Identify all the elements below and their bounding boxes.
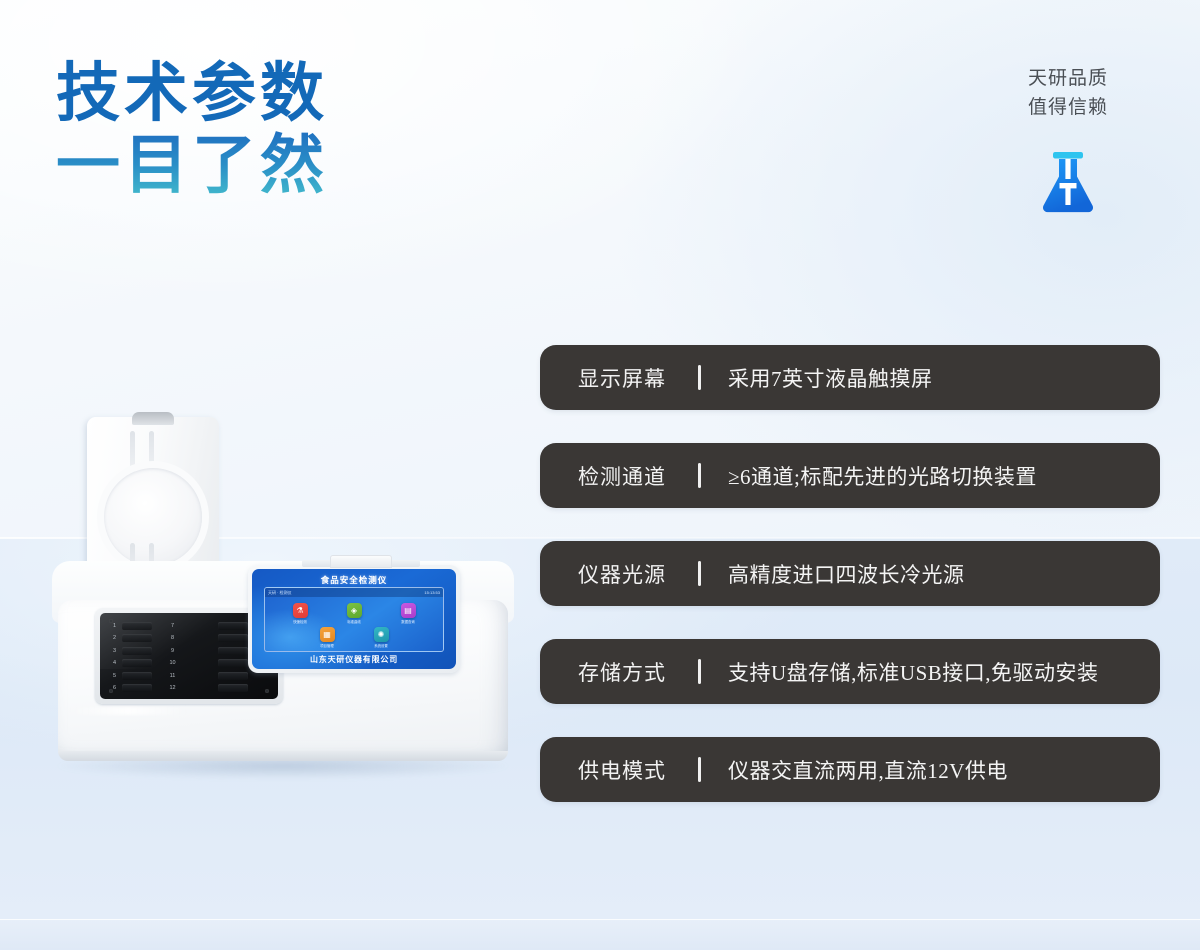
- app-icon[interactable]: ◈: [347, 603, 362, 618]
- spec-row: 显示屏幕采用7英寸液晶触摸屏: [540, 345, 1160, 410]
- screen-status-right: 15:13:53: [424, 590, 440, 595]
- spec-value-1: ≥6通道;标配先进的光路切换装置: [701, 461, 1037, 491]
- spec-label-4: 供电模式: [540, 755, 698, 785]
- device-illustration: 123456 789101112 食品安全检测仪 天研 · 检测仪 15:13:…: [40, 415, 520, 815]
- tray-slot-number: 12: [166, 684, 179, 692]
- tray-screw: [265, 689, 269, 693]
- screen-app-grid[interactable]: ⚗快速检测◈标准曲线▤数据查询▦项目管理✺系统设置: [265, 600, 443, 649]
- flask-icon-wrap: [978, 150, 1158, 214]
- app-label: 系统设置: [374, 643, 388, 648]
- tray-slot: [218, 659, 248, 667]
- screen-app-快速检测[interactable]: ⚗快速检测: [278, 603, 322, 624]
- panel-arm-right: [390, 560, 420, 567]
- screen-app-系统设置[interactable]: ✺系统设置: [359, 627, 403, 648]
- floor-line: [0, 919, 1200, 920]
- spec-value-4: 仪器交直流两用,直流12V供电: [701, 755, 1008, 785]
- app-label: 数据查询: [401, 619, 415, 624]
- panel-arm-left: [302, 560, 332, 567]
- spec-row: 检测通道≥6通道;标配先进的光路切换装置: [540, 443, 1160, 508]
- screen-app-标准曲线[interactable]: ◈标准曲线: [332, 603, 376, 624]
- screen-title: 食品安全检测仪: [252, 574, 456, 586]
- screen-content[interactable]: 天研 · 检测仪 15:13:53 ⚗快速检测◈标准曲线▤数据查询▦项目管理✺系…: [264, 587, 444, 652]
- page-title-line-2: 一目了然: [56, 130, 328, 202]
- tray-slot: [218, 647, 248, 655]
- flask-icon: [1039, 150, 1097, 214]
- device-base-edge: [58, 751, 508, 761]
- tray-slots-left: [122, 622, 154, 692]
- app-label: 标准曲线: [347, 619, 361, 624]
- tray-slot-number: 5: [108, 672, 121, 680]
- brand-slogan-line-2: 值得信赖: [978, 93, 1158, 122]
- tray-slot: [122, 634, 152, 642]
- screen-status-bar: 天研 · 检测仪 15:13:53: [265, 588, 443, 597]
- tray-slot: [218, 634, 248, 642]
- tray-slot-number: 7: [166, 622, 179, 630]
- brand-block: 天研品质 值得信赖: [978, 64, 1158, 214]
- tray-slot: [218, 672, 248, 680]
- spec-list: 显示屏幕采用7英寸液晶触摸屏检测通道≥6通道;标配先进的光路切换装置仪器光源高精…: [540, 345, 1160, 802]
- background-floor: [0, 920, 1200, 950]
- tray-slot-number: 1: [108, 622, 121, 630]
- screen-footer: 山东天研仪器有限公司: [252, 654, 456, 665]
- tray-slot: [218, 622, 248, 630]
- app-icon[interactable]: ✺: [374, 627, 389, 642]
- tray-slot-number: 8: [166, 634, 179, 642]
- screen-status-left: 天研 · 检测仪: [268, 590, 292, 596]
- tray-slot-number: 3: [108, 647, 121, 655]
- spec-value-2: 高精度进口四波长冷光源: [701, 559, 965, 589]
- page-title-line-1: 技术参数: [56, 58, 328, 130]
- tray-slot-number: 11: [166, 672, 179, 680]
- spec-label-3: 存储方式: [540, 657, 698, 687]
- tray-slot: [122, 659, 152, 667]
- device-highlight: [68, 707, 188, 715]
- brand-slogan-line-1: 天研品质: [978, 64, 1158, 93]
- tray-slot: [122, 622, 152, 630]
- tray-slot: [122, 684, 152, 692]
- tray-slot-number: 4: [108, 659, 121, 667]
- spec-label-1: 检测通道: [540, 461, 698, 491]
- app-label: 项目管理: [320, 643, 334, 648]
- spec-value-0: 采用7英寸液晶触摸屏: [701, 363, 933, 393]
- tray-slot-number: 10: [166, 659, 179, 667]
- tray-slot: [122, 672, 152, 680]
- app-icon[interactable]: ▤: [401, 603, 416, 618]
- spec-row: 仪器光源高精度进口四波长冷光源: [540, 541, 1160, 606]
- device-display-panel[interactable]: 食品安全检测仪 天研 · 检测仪 15:13:53 ⚗快速检测◈标准曲线▤数据查…: [248, 565, 460, 673]
- tray-slot: [122, 647, 152, 655]
- tray-slot-number: 6: [108, 684, 121, 692]
- screen-app-项目管理[interactable]: ▦项目管理: [305, 627, 349, 648]
- promo-page: 技术参数 一目了然 天研品质 值得信赖: [0, 0, 1200, 950]
- spec-label-0: 显示屏幕: [540, 363, 698, 393]
- app-icon[interactable]: ▦: [320, 627, 335, 642]
- spec-value-3: 支持U盘存储,标准USB接口,免驱动安装: [701, 657, 1099, 687]
- tray-slot-number: 9: [166, 647, 179, 655]
- tray-numbers-right: 789101112: [166, 622, 218, 692]
- tray-slot-number: 2: [108, 634, 121, 642]
- page-title: 技术参数 一目了然: [56, 58, 328, 202]
- tray-slots-right: [218, 622, 250, 692]
- spec-row: 存储方式支持U盘存储,标准USB接口,免驱动安装: [540, 639, 1160, 704]
- panel-clip: [330, 555, 392, 568]
- app-label: 快速检测: [293, 619, 307, 624]
- tray-slot: [218, 684, 248, 692]
- spec-row: 供电模式仪器交直流两用,直流12V供电: [540, 737, 1160, 802]
- screen-app-数据查询[interactable]: ▤数据查询: [386, 603, 430, 624]
- app-icon[interactable]: ⚗: [293, 603, 308, 618]
- device-screen[interactable]: 食品安全检测仪 天研 · 检测仪 15:13:53 ⚗快速检测◈标准曲线▤数据查…: [252, 569, 456, 669]
- spec-label-2: 仪器光源: [540, 559, 698, 589]
- lid-notch: [132, 412, 174, 425]
